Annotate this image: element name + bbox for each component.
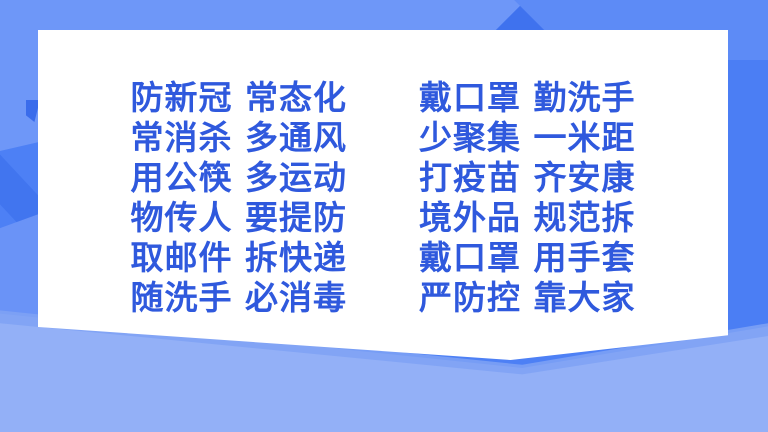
slogan-column-right: 戴口罩 勤洗手 少聚集 一米距 打疫苗 齐安康 境外品 规范拆 戴口罩 用手套 … <box>419 78 636 318</box>
slogan-line: 戴口罩 勤洗手 <box>419 78 636 118</box>
slogan-line: 常消杀 多通风 <box>131 118 348 158</box>
slogan-column-left: 防新冠 常态化 常消杀 多通风 用公筷 多运动 物传人 要提防 取邮件 拆快递 … <box>131 78 348 318</box>
slogan-line: 严防控 靠大家 <box>419 278 636 318</box>
poster-root: 防新冠 常态化 常消杀 多通风 用公筷 多运动 物传人 要提防 取邮件 拆快递 … <box>0 0 768 432</box>
slogan-container: 防新冠 常态化 常消杀 多通风 用公筷 多运动 物传人 要提防 取邮件 拆快递 … <box>38 30 728 360</box>
slogan-line: 戴口罩 用手套 <box>419 238 636 278</box>
slogan-line: 防新冠 常态化 <box>131 78 348 118</box>
slogan-line: 物传人 要提防 <box>131 198 348 238</box>
slogan-line: 少聚集 一米距 <box>419 118 636 158</box>
slogan-line: 用公筷 多运动 <box>131 158 348 198</box>
slogan-line: 随洗手 必消毒 <box>131 278 348 318</box>
slogan-line: 境外品 规范拆 <box>419 198 636 238</box>
slogan-line: 取邮件 拆快递 <box>131 238 348 278</box>
slogan-line: 打疫苗 齐安康 <box>419 158 636 198</box>
